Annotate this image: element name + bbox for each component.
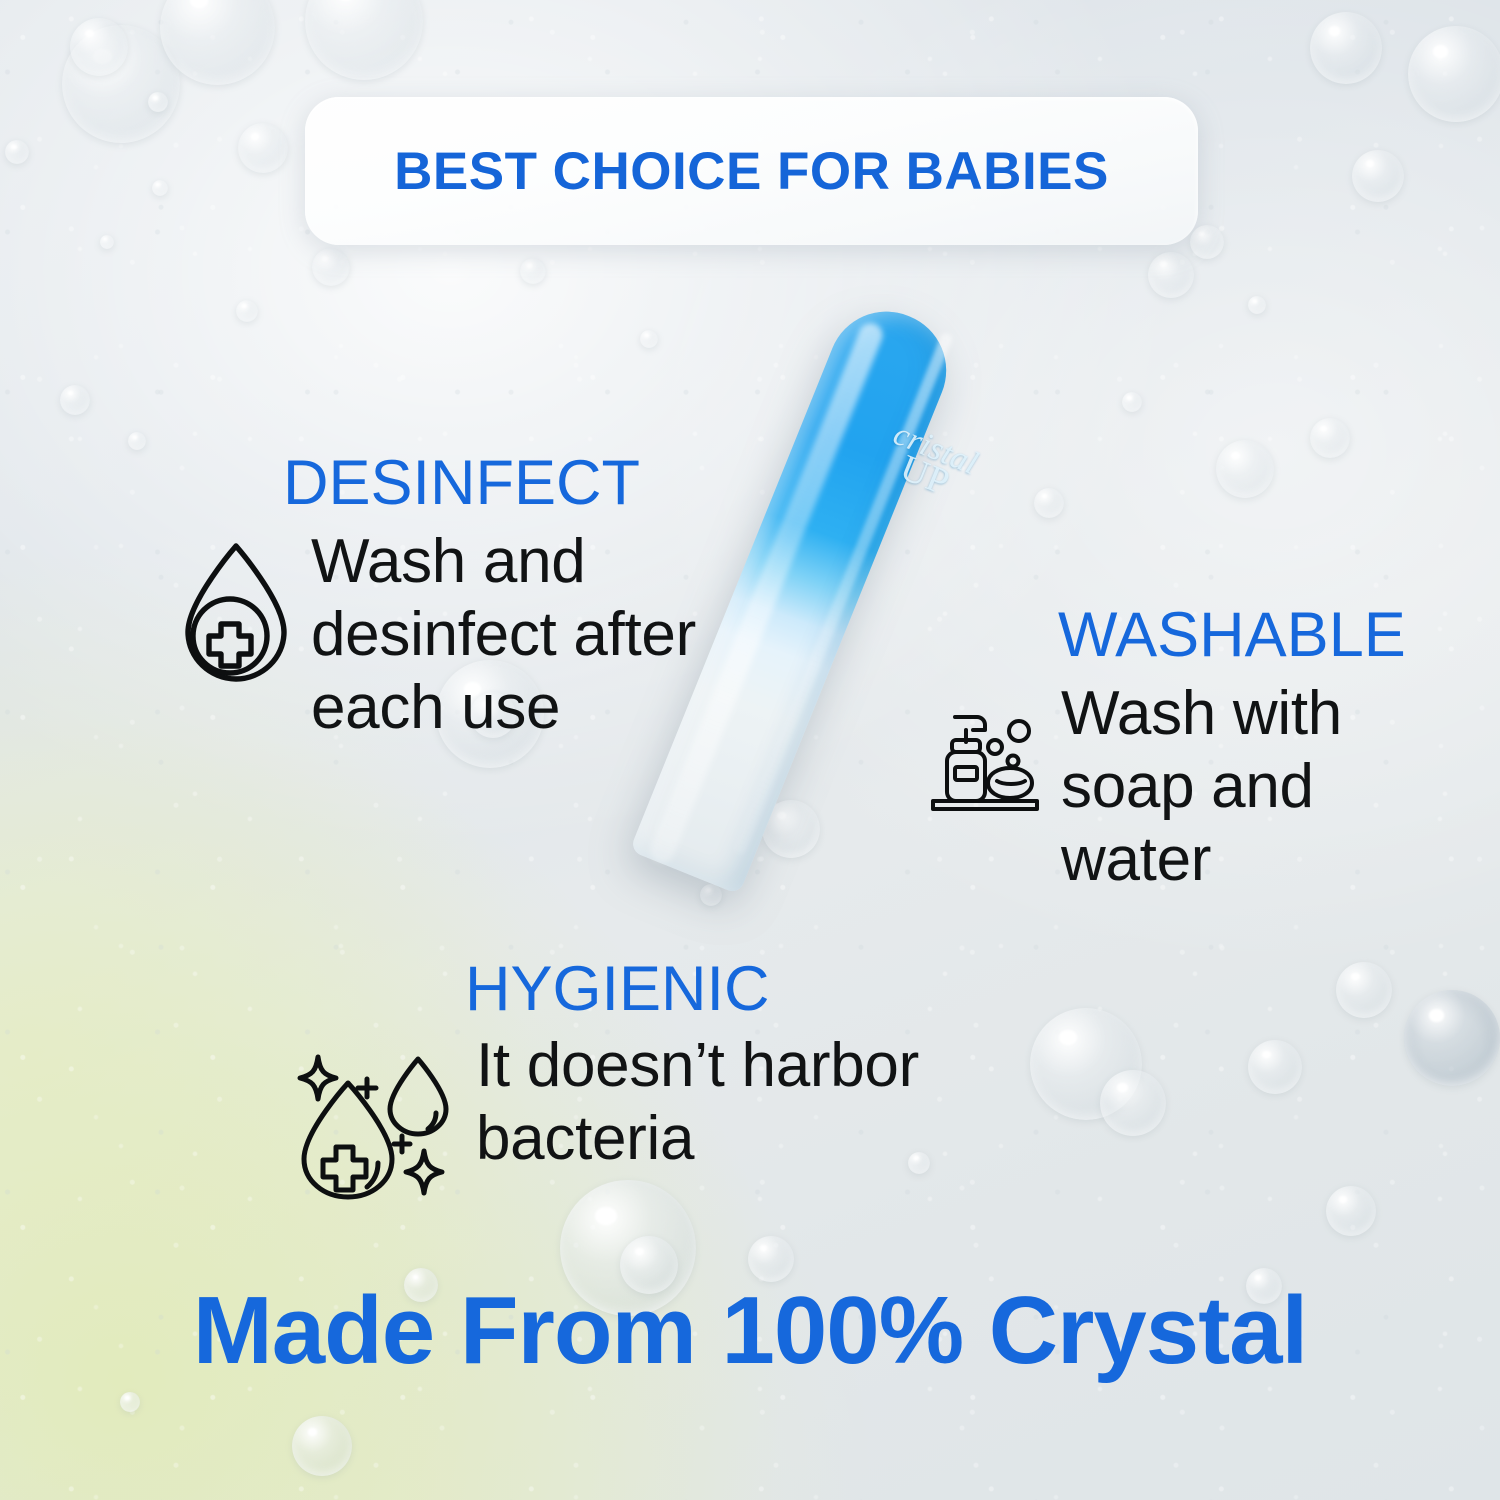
banner-label: BEST CHOICE FOR BABIES bbox=[394, 141, 1109, 202]
bottom-headline: Made From 100% Crystal bbox=[0, 1283, 1500, 1379]
feature-hygienic: HYGIENIC bbox=[290, 958, 1036, 1206]
feature-body-washable: Wash with soap and water bbox=[1061, 677, 1406, 896]
bubble bbox=[1248, 296, 1266, 314]
bubble bbox=[520, 258, 546, 284]
bubble bbox=[1148, 252, 1194, 298]
bubble bbox=[238, 123, 288, 173]
bubble bbox=[1248, 1040, 1302, 1094]
bubble bbox=[236, 300, 258, 322]
headline-part-2: 100% Crystal bbox=[722, 1277, 1308, 1384]
bubble bbox=[120, 1392, 140, 1412]
bubble bbox=[1310, 12, 1382, 84]
bubble bbox=[128, 432, 146, 450]
bubble bbox=[1190, 225, 1224, 259]
bubble bbox=[70, 18, 128, 76]
best-choice-banner: BEST CHOICE FOR BABIES bbox=[305, 97, 1198, 245]
bubble bbox=[1408, 26, 1500, 122]
bubble bbox=[1310, 418, 1350, 458]
infographic-canvas: BEST CHOICE FOR BABIES cristal UP DESINF… bbox=[0, 0, 1500, 1500]
water-drop-medical-cross-icon bbox=[180, 539, 292, 694]
feature-heading-desinfect: DESINFECT bbox=[283, 452, 791, 515]
bubble bbox=[700, 884, 722, 906]
bubble bbox=[1122, 392, 1142, 412]
bubble bbox=[748, 1236, 794, 1282]
bubble bbox=[312, 248, 350, 286]
feature-body-desinfect: Wash and desinfect after each use bbox=[311, 525, 791, 744]
bubble bbox=[100, 235, 114, 249]
bubble bbox=[640, 330, 658, 348]
bubble bbox=[148, 92, 168, 112]
bubble bbox=[5, 140, 29, 164]
feature-heading-hygienic: HYGIENIC bbox=[465, 958, 1036, 1021]
bubble bbox=[1404, 990, 1500, 1086]
bubble bbox=[60, 385, 90, 415]
soap-dispenser-bubbles-icon bbox=[925, 709, 1043, 820]
feature-desinfect: DESINFECT Wash and desinfect after each … bbox=[180, 452, 791, 744]
feature-washable: WASHABLE bbox=[925, 604, 1406, 896]
feature-heading-washable: WASHABLE bbox=[1058, 604, 1406, 667]
bubble bbox=[1352, 150, 1404, 202]
feature-body-hygienic: It doesn’t harbor bacteria bbox=[476, 1029, 1036, 1175]
bubble bbox=[1034, 488, 1064, 518]
bubble bbox=[1326, 1186, 1376, 1236]
sparkling-water-drop-cross-icon bbox=[290, 1051, 462, 1206]
bubble bbox=[1336, 962, 1392, 1018]
bubble bbox=[762, 800, 820, 858]
bubble bbox=[1100, 1070, 1166, 1136]
bubble bbox=[292, 1416, 352, 1476]
bubble bbox=[1216, 440, 1274, 498]
headline-part-1: Made From bbox=[193, 1277, 722, 1384]
bubble bbox=[152, 180, 168, 196]
